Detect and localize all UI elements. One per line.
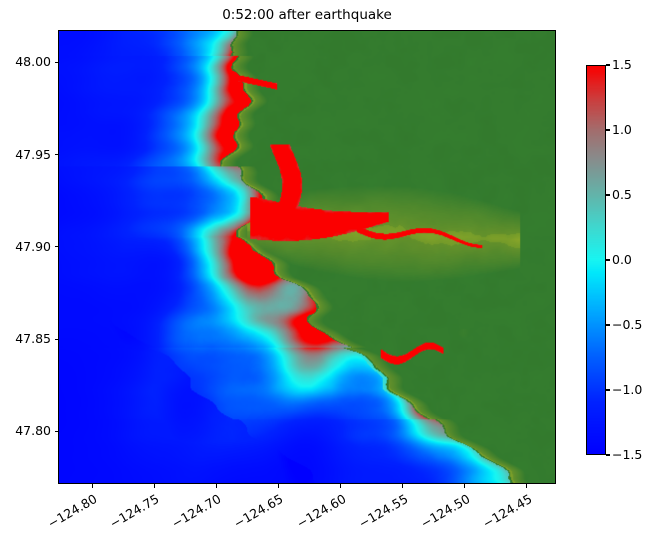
y-tick-mark <box>55 246 59 247</box>
colorbar-tick-label: 0.5 <box>612 187 632 202</box>
map-axes[interactable] <box>58 30 556 484</box>
x-tick-label: −124.75 <box>101 491 162 535</box>
colorbar-tick-label: −0.5 <box>612 317 642 332</box>
figure-canvas: 0:52:00 after earthquake 48.0047.9547.90… <box>0 0 658 541</box>
x-tick-mark <box>154 484 155 488</box>
y-tick-mark <box>55 431 59 432</box>
x-tick-label: −124.50 <box>411 491 472 535</box>
colorbar-tick-label: 1.0 <box>612 122 632 137</box>
colorbar-tick-mark <box>606 389 610 390</box>
y-tick-label: 47.80 <box>15 423 51 438</box>
colorbar-tick-label: 0.0 <box>612 252 632 267</box>
x-tick-label: −124.70 <box>163 491 224 535</box>
colorbar-tick-label: −1.5 <box>612 447 642 462</box>
x-tick-mark <box>216 484 217 488</box>
y-tick-label: 47.90 <box>15 239 51 254</box>
y-tick-mark <box>55 62 59 63</box>
colorbar-tick-mark <box>606 194 610 195</box>
colorbar-tick-label: 1.5 <box>612 57 632 72</box>
colorbar-tick-mark <box>606 259 610 260</box>
x-tick-label: −124.65 <box>225 491 286 535</box>
colorbar-tick-mark <box>606 129 610 130</box>
colorbar-tick-mark <box>606 64 610 65</box>
y-tick-mark <box>55 154 59 155</box>
x-tick-label: −124.60 <box>287 491 348 535</box>
x-tick-label: −124.80 <box>38 491 99 535</box>
x-tick-mark <box>278 484 279 488</box>
y-tick-label: 47.85 <box>15 331 51 346</box>
x-tick-mark <box>340 484 341 488</box>
colorbar-tick-mark <box>606 324 610 325</box>
tsunami-heatmap <box>59 31 555 483</box>
page-title: 0:52:00 after earthquake <box>58 6 556 24</box>
x-tick-label: −124.45 <box>473 491 534 535</box>
colorbar-tick-label: −1.0 <box>612 382 642 397</box>
colorbar-tick-mark <box>606 454 610 455</box>
y-tick-label: 48.00 <box>15 54 51 69</box>
x-tick-mark <box>464 484 465 488</box>
x-tick-mark <box>402 484 403 488</box>
y-tick-label: 47.95 <box>15 147 51 162</box>
x-tick-label: −124.55 <box>349 491 410 535</box>
x-tick-mark <box>92 484 93 488</box>
colorbar-gradient <box>587 66 605 454</box>
y-tick-mark <box>55 339 59 340</box>
x-tick-mark <box>526 484 527 488</box>
colorbar[interactable] <box>586 65 606 455</box>
